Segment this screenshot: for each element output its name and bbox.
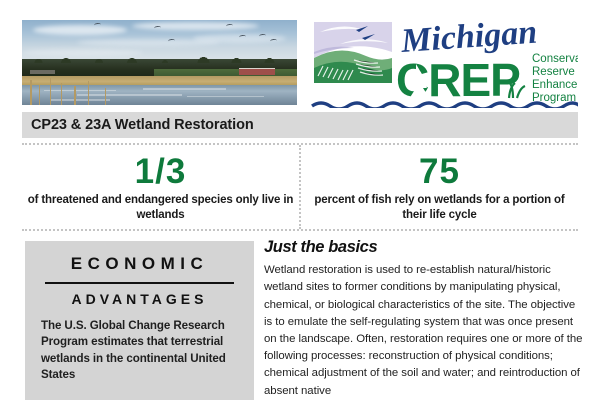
photo-foreground-reed xyxy=(61,83,62,105)
stat-block-threatened-species: 1/3 of threatened and endangered species… xyxy=(22,145,299,229)
photo-foreground-reed xyxy=(88,81,89,105)
bird-icon xyxy=(168,38,175,43)
photo-foreground-reed xyxy=(105,88,106,105)
stat-caption: of threatened and endangered species onl… xyxy=(22,193,299,222)
photo-foreground-reed xyxy=(50,78,51,105)
economic-advantages-divider xyxy=(45,282,234,284)
photo-shed xyxy=(30,70,55,74)
logo-tagline-line-3: Enhancement xyxy=(532,79,578,91)
page-title: CP23 & 23A Wetland Restoration xyxy=(22,117,254,133)
just-the-basics-section: Just the basics Wetland restoration is u… xyxy=(264,238,586,400)
economic-advantages-title: ECONOMIC xyxy=(41,255,238,272)
bird-icon xyxy=(93,22,100,27)
bird-icon xyxy=(269,38,276,43)
stat-number: 1/3 xyxy=(135,154,187,189)
logo-tagline-line-1: Conservation xyxy=(532,53,578,65)
photo-foreground-reed xyxy=(30,80,31,106)
bird-icon xyxy=(154,26,161,31)
masthead: Michigan CREP Conservation Reserve Enhan… xyxy=(0,0,600,110)
wetland-landscape-photo xyxy=(22,20,297,105)
bird-icon xyxy=(258,33,265,38)
economic-advantages-body: The U.S. Global Change Research Program … xyxy=(41,318,238,384)
stat-number: 75 xyxy=(419,154,460,189)
economic-advantages-panel: ECONOMIC ADVANTAGES The U.S. Global Chan… xyxy=(25,241,254,400)
photo-foreground-reed xyxy=(74,86,75,105)
photo-cloud xyxy=(132,22,259,31)
photo-water xyxy=(22,85,297,105)
statistics-strip: 1/3 of threatened and endangered species… xyxy=(22,143,578,231)
photo-foreground-reed xyxy=(39,85,40,105)
economic-advantages-subtitle: ADVANTAGES xyxy=(41,292,238,306)
just-the-basics-title: Just the basics xyxy=(264,238,586,256)
logo-landscape-emblem xyxy=(314,22,392,84)
michigan-crep-logo: Michigan CREP Conservation Reserve Enhan… xyxy=(310,18,578,108)
just-the-basics-body: Wetland restoration is used to re-establ… xyxy=(264,262,586,400)
section-title-bar: CP23 & 23A Wetland Restoration xyxy=(22,112,578,138)
logo-tagline-line-2: Reserve xyxy=(532,66,575,78)
stat-block-fish-reliance: 75 percent of fish rely on wetlands for … xyxy=(299,145,578,229)
photo-barn xyxy=(239,68,275,75)
stat-caption: percent of fish rely on wetlands for a p… xyxy=(301,193,578,222)
